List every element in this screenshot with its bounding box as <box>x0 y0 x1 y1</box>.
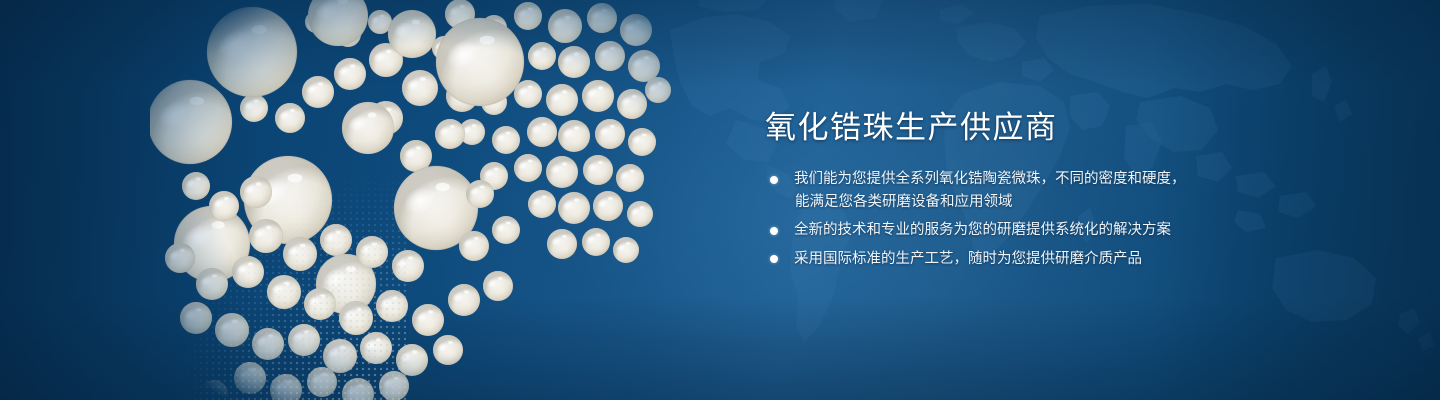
bullet-dot-icon <box>770 255 778 263</box>
bullet-dot-icon <box>770 227 778 235</box>
list-item: 我们能为您提供全系列氧化锆陶瓷微珠，不同的密度和硬度， 能满足您各类研磨设备和应… <box>767 168 1367 213</box>
zirconia-beads-photo <box>150 0 740 400</box>
list-item-line-1: 全新的技术和专业的服务为您的研磨提供系统化的解决方案 <box>794 222 1171 238</box>
list-item-line-2: 能满足您各类研磨设备和应用领域 <box>795 191 1367 214</box>
list-item-line-1: 采用国际标准的生产工艺，随时为您提供研磨介质产品 <box>794 251 1142 267</box>
banner-content: 氧化锆珠生产供应商 我们能为您提供全系列氧化锆陶瓷微珠，不同的密度和硬度， 能满… <box>765 0 1385 400</box>
banner-feature-list: 我们能为您提供全系列氧化锆陶瓷微珠，不同的密度和硬度， 能满足您各类研磨设备和应… <box>767 168 1367 270</box>
list-item: 全新的技术和专业的服务为您的研磨提供系统化的解决方案 <box>767 219 1367 242</box>
hero-banner: 氧化锆珠生产供应商 我们能为您提供全系列氧化锆陶瓷微珠，不同的密度和硬度， 能满… <box>0 0 1440 400</box>
list-item: 采用国际标准的生产工艺，随时为您提供研磨介质产品 <box>767 248 1367 271</box>
banner-title: 氧化锆珠生产供应商 <box>765 108 1058 148</box>
list-item-line-1: 我们能为您提供全系列氧化锆陶瓷微珠，不同的密度和硬度， <box>794 171 1186 187</box>
bullet-dot-icon <box>770 176 778 184</box>
